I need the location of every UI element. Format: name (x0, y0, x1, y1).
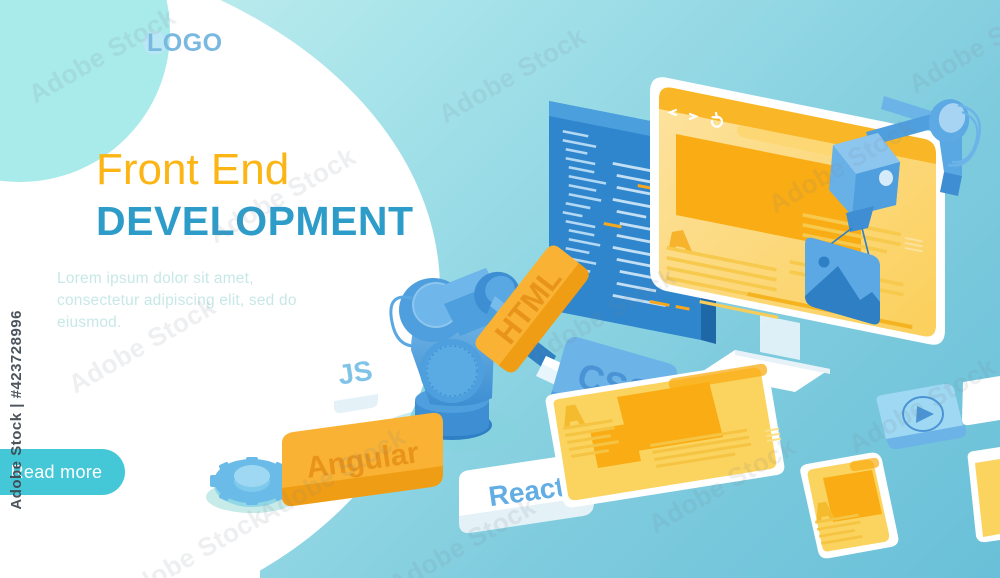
card-top-right-partial (962, 376, 1000, 425)
logo[interactable]: LOGO (147, 28, 223, 58)
angular-tile[interactable]: Angular (282, 413, 443, 506)
phone-mockup[interactable] (800, 453, 898, 559)
page-title: DEVELOPMENT (96, 201, 414, 242)
js-tile[interactable]: JS (334, 334, 378, 413)
video-play-tile[interactable] (877, 384, 967, 449)
card-right-partial (968, 447, 1000, 542)
body-paragraph: Lorem ipsum dolor sit amet, consectetur … (57, 268, 325, 334)
logo-text: LOGO (147, 29, 223, 58)
headline-top: Front End (96, 148, 289, 192)
svg-text:JS: JS (336, 355, 375, 391)
watermark-id: Adobe Stock | #423728996 (8, 310, 25, 510)
poster-canvas: JS Angular HTML CSS React (0, 0, 1000, 578)
